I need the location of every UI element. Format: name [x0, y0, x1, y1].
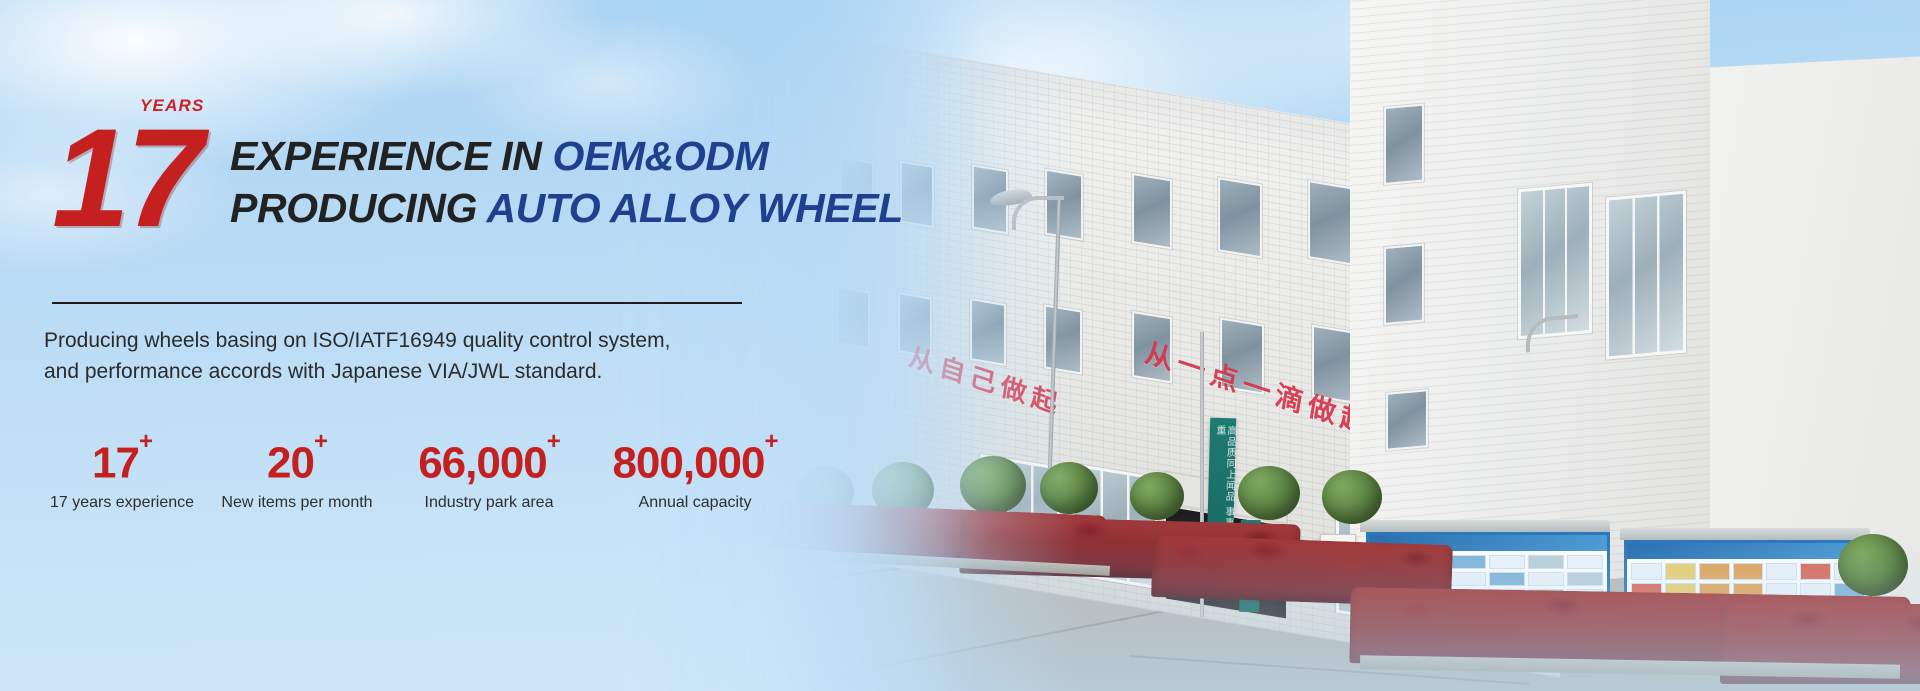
headline-text-block: EXPERIENCE IN OEM&ODM PRODUCING AUTO ALL…	[230, 130, 950, 234]
bulletin-canopy	[1360, 520, 1610, 532]
stat-plus: +	[139, 428, 152, 455]
stat-number: 20+	[208, 430, 386, 489]
window	[1384, 244, 1424, 325]
window	[1384, 104, 1424, 185]
headline-line-2-blue: AUTO ALLOY WHEEL	[486, 185, 903, 231]
round-bush	[1130, 472, 1184, 520]
stat-item: 800,000+ Annual capacity	[590, 430, 800, 515]
stat-item: 17+ 17 years experience	[42, 430, 202, 515]
stat-value: 20	[267, 439, 314, 488]
stat-plus: +	[765, 428, 778, 455]
headline-line-1-blue: OEM&ODM	[552, 133, 768, 179]
horizontal-divider	[52, 302, 742, 304]
headline-line-1-dark: EXPERIENCE IN	[230, 133, 552, 179]
description-text: Producing wheels basing on ISO/IATF16949…	[44, 325, 804, 387]
description-line-1: Producing wheels basing on ISO/IATF16949…	[44, 325, 804, 356]
stat-value: 17	[92, 439, 139, 488]
promo-banner: 从自己做起 从一点一滴做起 高品质同上闻品 事事党党所党重 5	[0, 0, 1920, 691]
window	[1308, 180, 1354, 266]
headline-line-2: PRODUCING AUTO ALLOY WHEEL	[230, 182, 950, 234]
building-right	[1350, 0, 1710, 602]
headline-line-2-dark: PRODUCING	[230, 185, 486, 231]
stat-item: 20+ New items per month	[208, 430, 386, 515]
description-line-2: and performance accords with Japanese VI…	[44, 356, 804, 387]
bulletin-canopy	[1620, 528, 1870, 540]
stat-label: 17 years experience	[42, 491, 202, 515]
window-large	[1606, 191, 1686, 360]
stat-number: 800,000+	[590, 430, 800, 489]
stat-label: New items per month	[208, 491, 386, 515]
stat-value: 800,000	[612, 439, 764, 488]
round-bush	[1322, 470, 1382, 524]
big-number-17: 17	[52, 108, 200, 248]
stat-item: 66,000+ Industry park area	[394, 430, 584, 515]
window	[1218, 177, 1262, 258]
stat-plus: +	[547, 428, 560, 455]
banner-content: YEARS 17 EXPERIENCE IN OEM&ODM PRODUCING…	[0, 0, 980, 691]
stat-value: 66,000	[418, 439, 547, 488]
stat-number: 66,000+	[394, 430, 584, 489]
round-bush	[1238, 466, 1300, 520]
stat-label: Industry park area	[394, 491, 584, 515]
stat-plus: +	[314, 428, 327, 455]
headline-line-1: EXPERIENCE IN OEM&ODM	[230, 130, 950, 182]
window	[1386, 389, 1428, 451]
window	[1132, 173, 1172, 250]
stat-number: 17+	[42, 430, 202, 489]
stat-label: Annual capacity	[590, 491, 800, 515]
